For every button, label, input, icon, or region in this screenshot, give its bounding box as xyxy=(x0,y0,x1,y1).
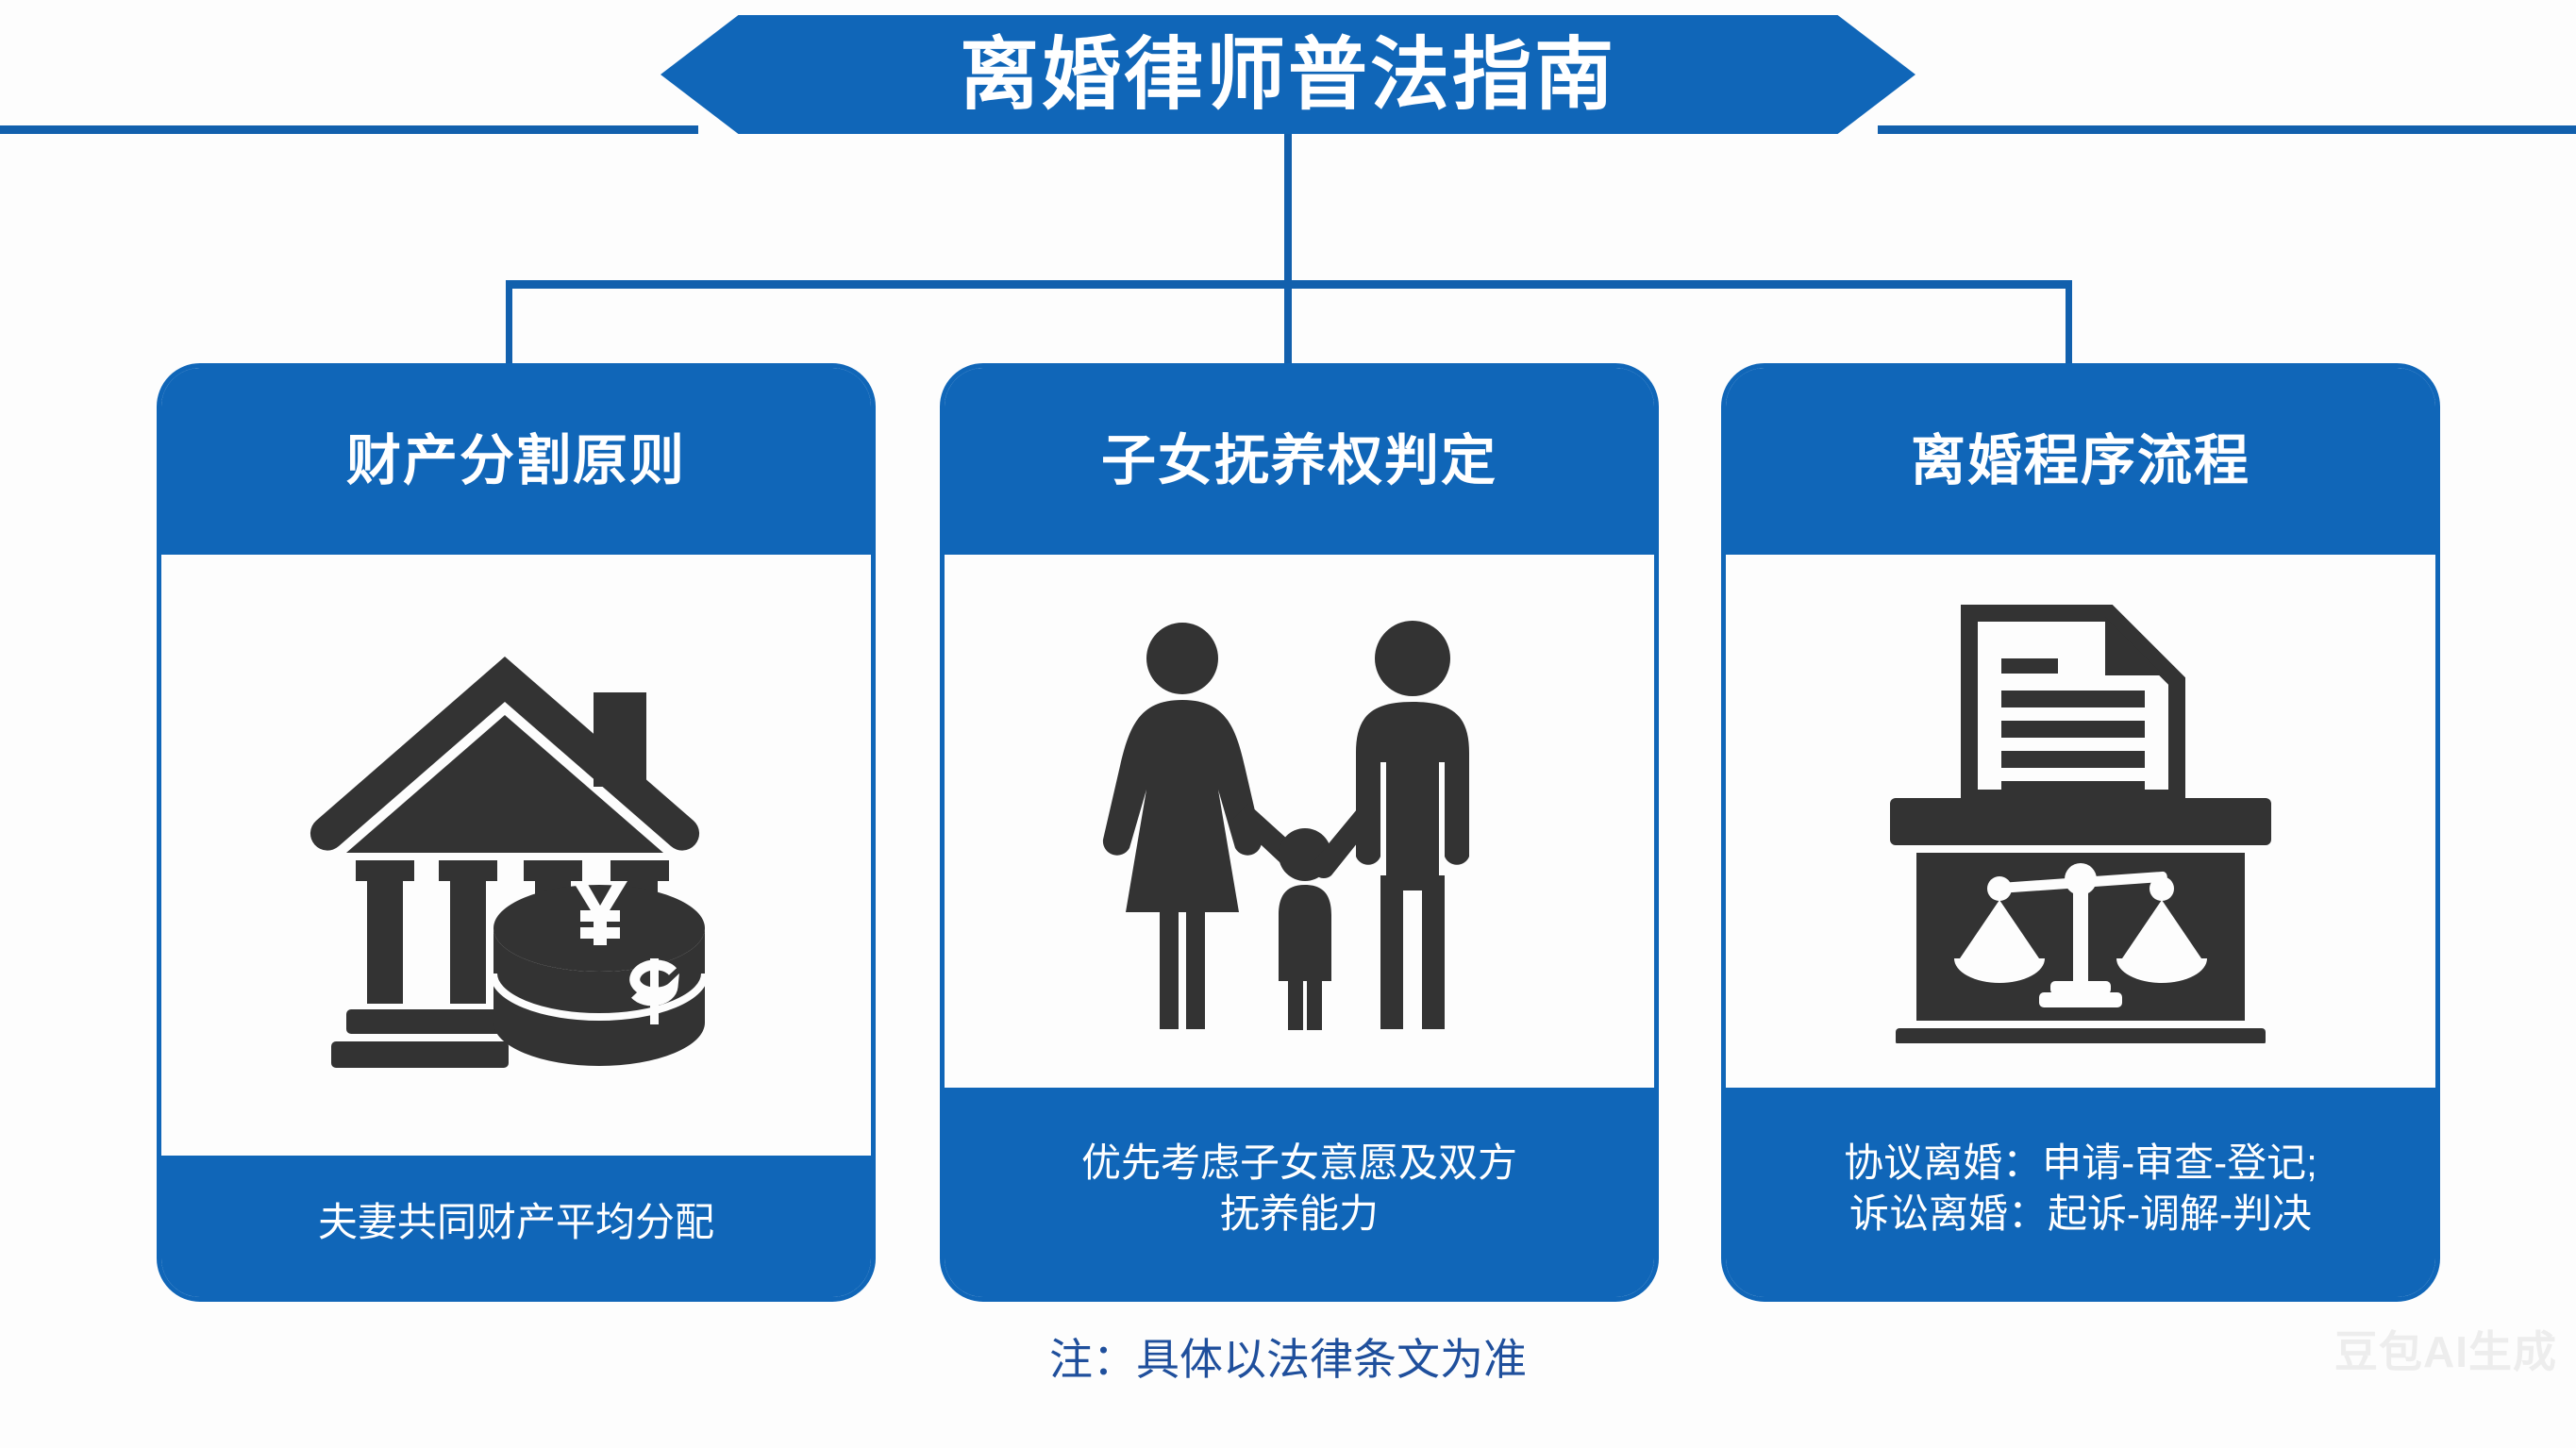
header-banner: 离婚律师普法指南 xyxy=(661,15,1915,134)
card-divorce-procedure[interactable]: 离婚程序流程 xyxy=(1721,363,2440,1302)
card-title-property-division: 财产分割原则 xyxy=(346,434,686,489)
card-header-divorce-procedure: 离婚程序流程 xyxy=(1726,368,2435,555)
card-icon-area-divorce-procedure xyxy=(1726,555,2435,1088)
card-caption-divorce-procedure: 协议离婚：申请-审查-登记; 诉讼离婚：起诉-调解-判决 xyxy=(1844,1138,2317,1240)
card-footer-child-custody: 优先考虑子女意愿及双方 抚养能力 xyxy=(945,1088,1654,1297)
family-parents-child-icon xyxy=(1092,609,1507,1034)
watermark: 豆包AI生成 xyxy=(2334,1330,2557,1373)
card-footer-property-division: 夫妻共同财产平均分配 xyxy=(161,1156,871,1297)
card-property-division[interactable]: 财产分割原则 xyxy=(157,363,876,1302)
card-footer-divorce-procedure: 协议离婚：申请-审查-登记; 诉讼离婚：起诉-调解-判决 xyxy=(1726,1088,2435,1297)
header-rule-left xyxy=(0,125,698,134)
card-title-divorce-procedure: 离婚程序流程 xyxy=(1911,434,2250,489)
card-caption-property-division: 夫妻共同财产平均分配 xyxy=(318,1197,714,1248)
card-title-child-custody: 子女抚养权判定 xyxy=(1101,434,1497,489)
page-title: 离婚律师普法指南 xyxy=(960,35,1616,114)
infographic-canvas: 离婚律师普法指南 财产分割原则 xyxy=(0,0,2576,1448)
card-icon-area-property-division xyxy=(161,555,871,1156)
card-caption-child-custody: 优先考虑子女意愿及双方 抚养能力 xyxy=(1081,1138,1517,1240)
bank-house-money-icon xyxy=(299,634,733,1077)
footnote: 注：具体以法律条文为准 xyxy=(0,1338,2576,1381)
card-header-property-division: 财产分割原则 xyxy=(161,368,871,555)
card-child-custody[interactable]: 子女抚养权判定 xyxy=(940,363,1659,1302)
header-rule-right xyxy=(1878,125,2576,134)
card-icon-area-child-custody xyxy=(945,555,1654,1088)
connector-stem xyxy=(1284,134,1292,283)
court-document-scales-icon xyxy=(1882,600,2279,1043)
card-header-child-custody: 子女抚养权判定 xyxy=(945,368,1654,555)
